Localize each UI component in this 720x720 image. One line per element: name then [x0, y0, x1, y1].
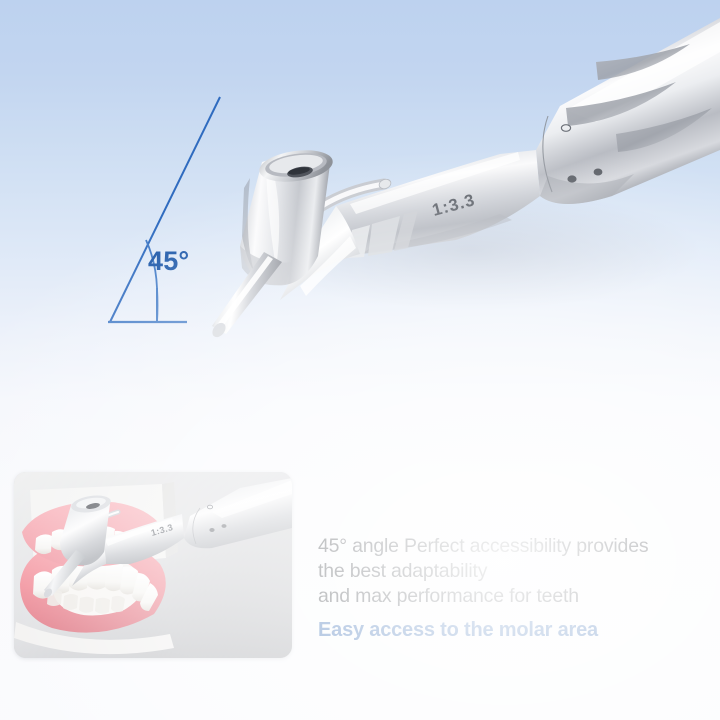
angle-ray-line — [110, 97, 220, 322]
angle-arc-lower — [157, 288, 158, 322]
copy-line-1: 45° angle Perfect accessibility provides — [318, 534, 708, 559]
copy-line-2: the best adaptability — [318, 559, 708, 584]
inset-illustration: 1:3.3 — [14, 472, 292, 658]
copy-line-3: and max performance for teeth — [318, 584, 708, 609]
feature-copy-block: 45° angle Perfect accessibility provides… — [318, 534, 708, 643]
application-inset-photo[interactable]: 1:3.3 — [14, 472, 292, 658]
angle-label: 45° — [148, 246, 189, 277]
copy-headline: Easy access to the molar area — [318, 617, 708, 643]
slide-canvas: 1:3.3 — [0, 0, 720, 720]
